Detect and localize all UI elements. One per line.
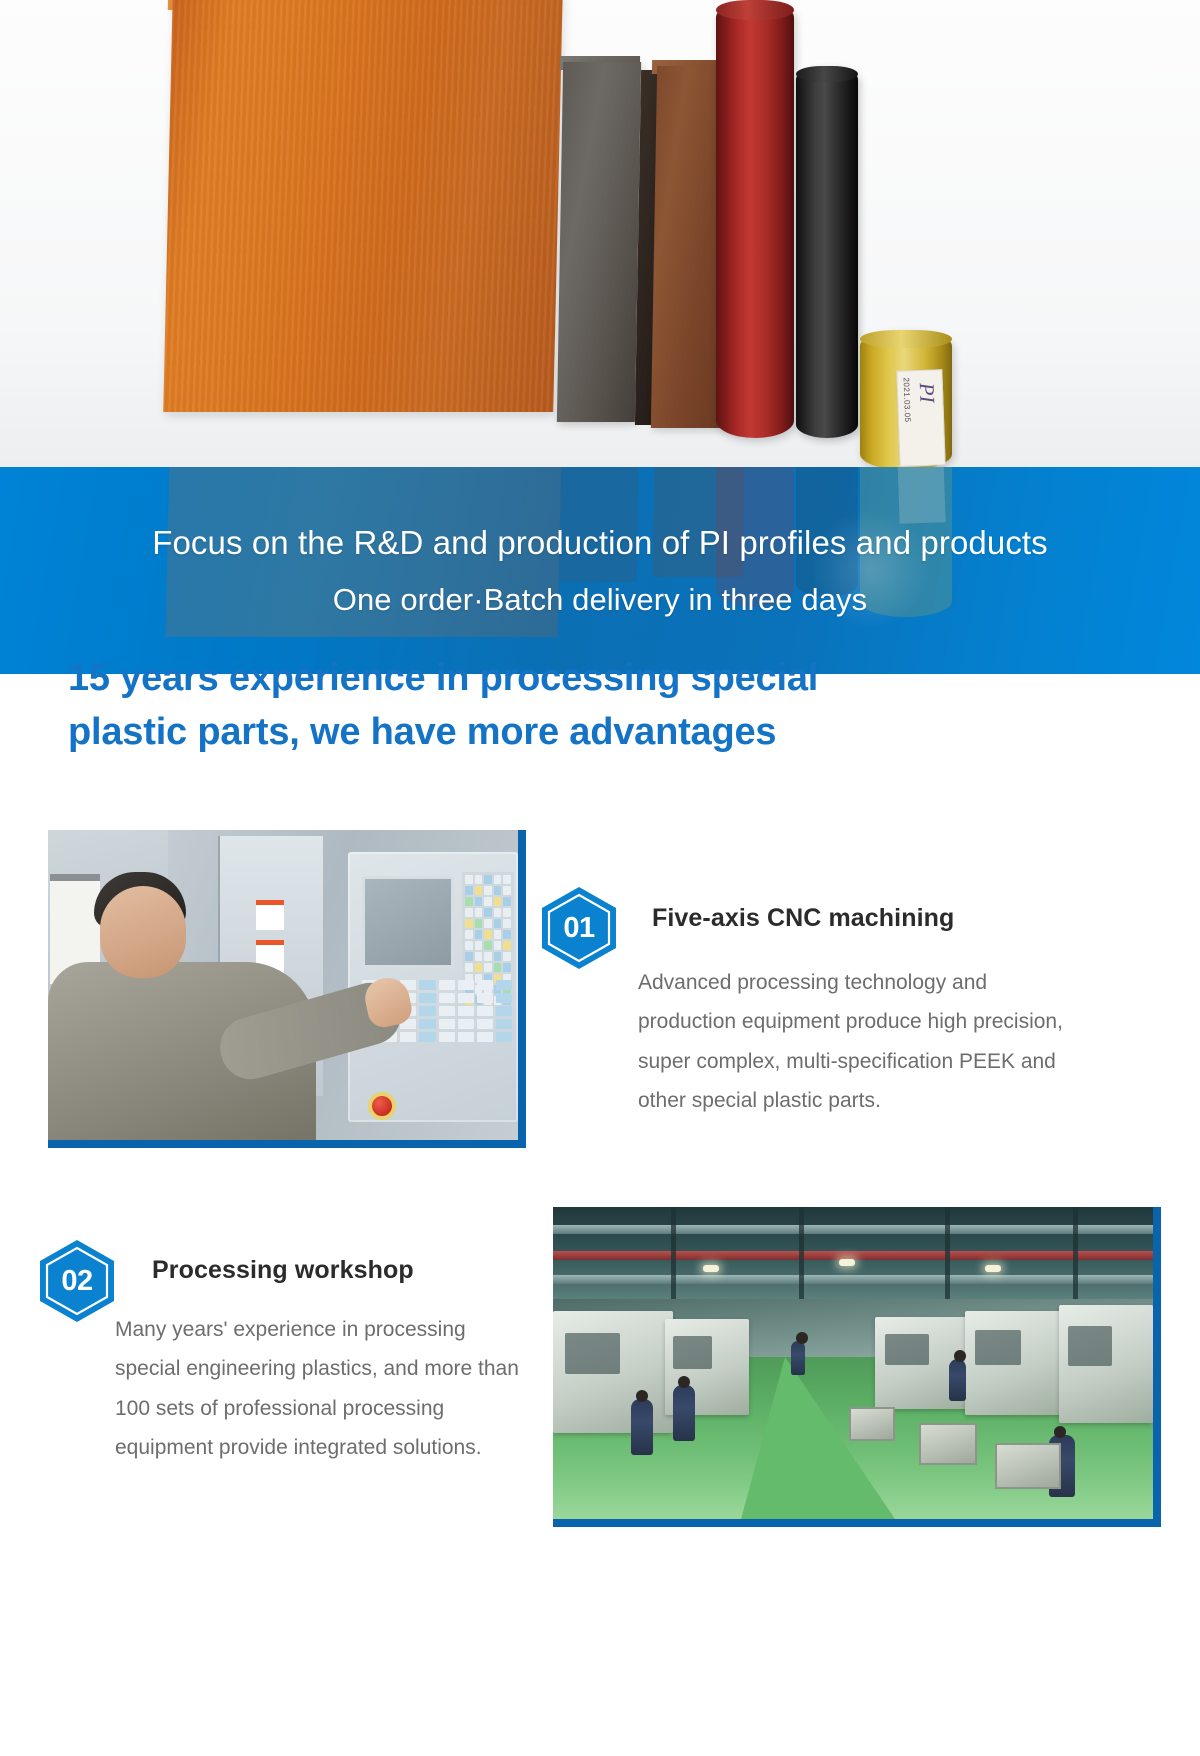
- ceiling-duct-1: [553, 1225, 1153, 1234]
- worker-3: [791, 1341, 805, 1375]
- feature-02-photo: [553, 1207, 1153, 1519]
- banner-tagline-primary: Focus on the R&D and production of PI pr…: [152, 524, 1048, 562]
- cnc-display-screen: [362, 876, 454, 968]
- ceiling-beam-3: [945, 1207, 950, 1299]
- rod-label-handwriting: PI: [914, 382, 940, 403]
- ceiling-lamp-3: [985, 1265, 1001, 1272]
- feature-01-badge: 01: [540, 885, 618, 971]
- material-cart-2: [919, 1423, 977, 1465]
- feature-01-photo-frame: [48, 830, 526, 1148]
- material-cart-1: [849, 1407, 895, 1441]
- rod-label-date: 2021.03.05: [902, 377, 913, 422]
- banner-tagline-secondary: One order·Batch delivery in three days: [333, 582, 868, 618]
- gray-sheet: [557, 62, 641, 422]
- hero-product-image: 2021.03.05 PI: [0, 0, 1200, 470]
- banner-text-block: Focus on the R&D and production of PI pr…: [0, 467, 1200, 674]
- ceiling-lamp-1: [703, 1265, 719, 1272]
- orange-phenolic-sheet: [163, 0, 563, 412]
- worker-head: [100, 886, 186, 978]
- material-cart-3: [995, 1443, 1061, 1489]
- worker-2: [673, 1385, 695, 1441]
- feature-01-body: Advanced processing technology and produ…: [638, 963, 1068, 1121]
- worker-4: [949, 1359, 966, 1401]
- cnc-machine-left-1: [553, 1311, 673, 1433]
- ceiling-beam-1: [671, 1207, 676, 1299]
- tagline-banner: Focus on the R&D and production of PI pr…: [0, 467, 1200, 674]
- warning-label-orange: [256, 900, 284, 930]
- feature-02-number: 02: [38, 1238, 116, 1324]
- ceiling-beam-2: [799, 1207, 804, 1299]
- black-rod: [796, 66, 858, 438]
- ceiling-duct-2: [553, 1275, 1153, 1284]
- cnc-machine-right-2: [965, 1311, 1065, 1415]
- worker-1: [631, 1399, 653, 1455]
- red-rod: [716, 0, 794, 438]
- feature-02-title: Processing workshop: [152, 1256, 414, 1285]
- emergency-stop-button: [368, 1092, 396, 1120]
- feature-01-number: 01: [540, 885, 618, 971]
- rod-label-sticker: 2021.03.05 PI: [896, 369, 945, 467]
- section-headline: 15 years experience in processing specia…: [68, 652, 1058, 760]
- feature-01-title: Five-axis CNC machining: [652, 904, 954, 933]
- feature-02-badge: 02: [38, 1238, 116, 1324]
- headline-line-2: plastic parts, we have more advantages: [68, 706, 1058, 760]
- ceiling-lamp-2: [839, 1259, 855, 1266]
- feature-02-photo-frame: [553, 1207, 1161, 1527]
- feature-02-body: Many years' experience in processing spe…: [115, 1310, 535, 1468]
- headline-line-1: 15 years experience in processing specia…: [68, 652, 1058, 706]
- ceiling-beam-4: [1073, 1207, 1078, 1299]
- cnc-machine-right-3: [1059, 1305, 1153, 1423]
- feature-01-photo: [48, 830, 518, 1140]
- marketing-page: 2021.03.05 PI Focus on the R&D and produ…: [0, 0, 1200, 1756]
